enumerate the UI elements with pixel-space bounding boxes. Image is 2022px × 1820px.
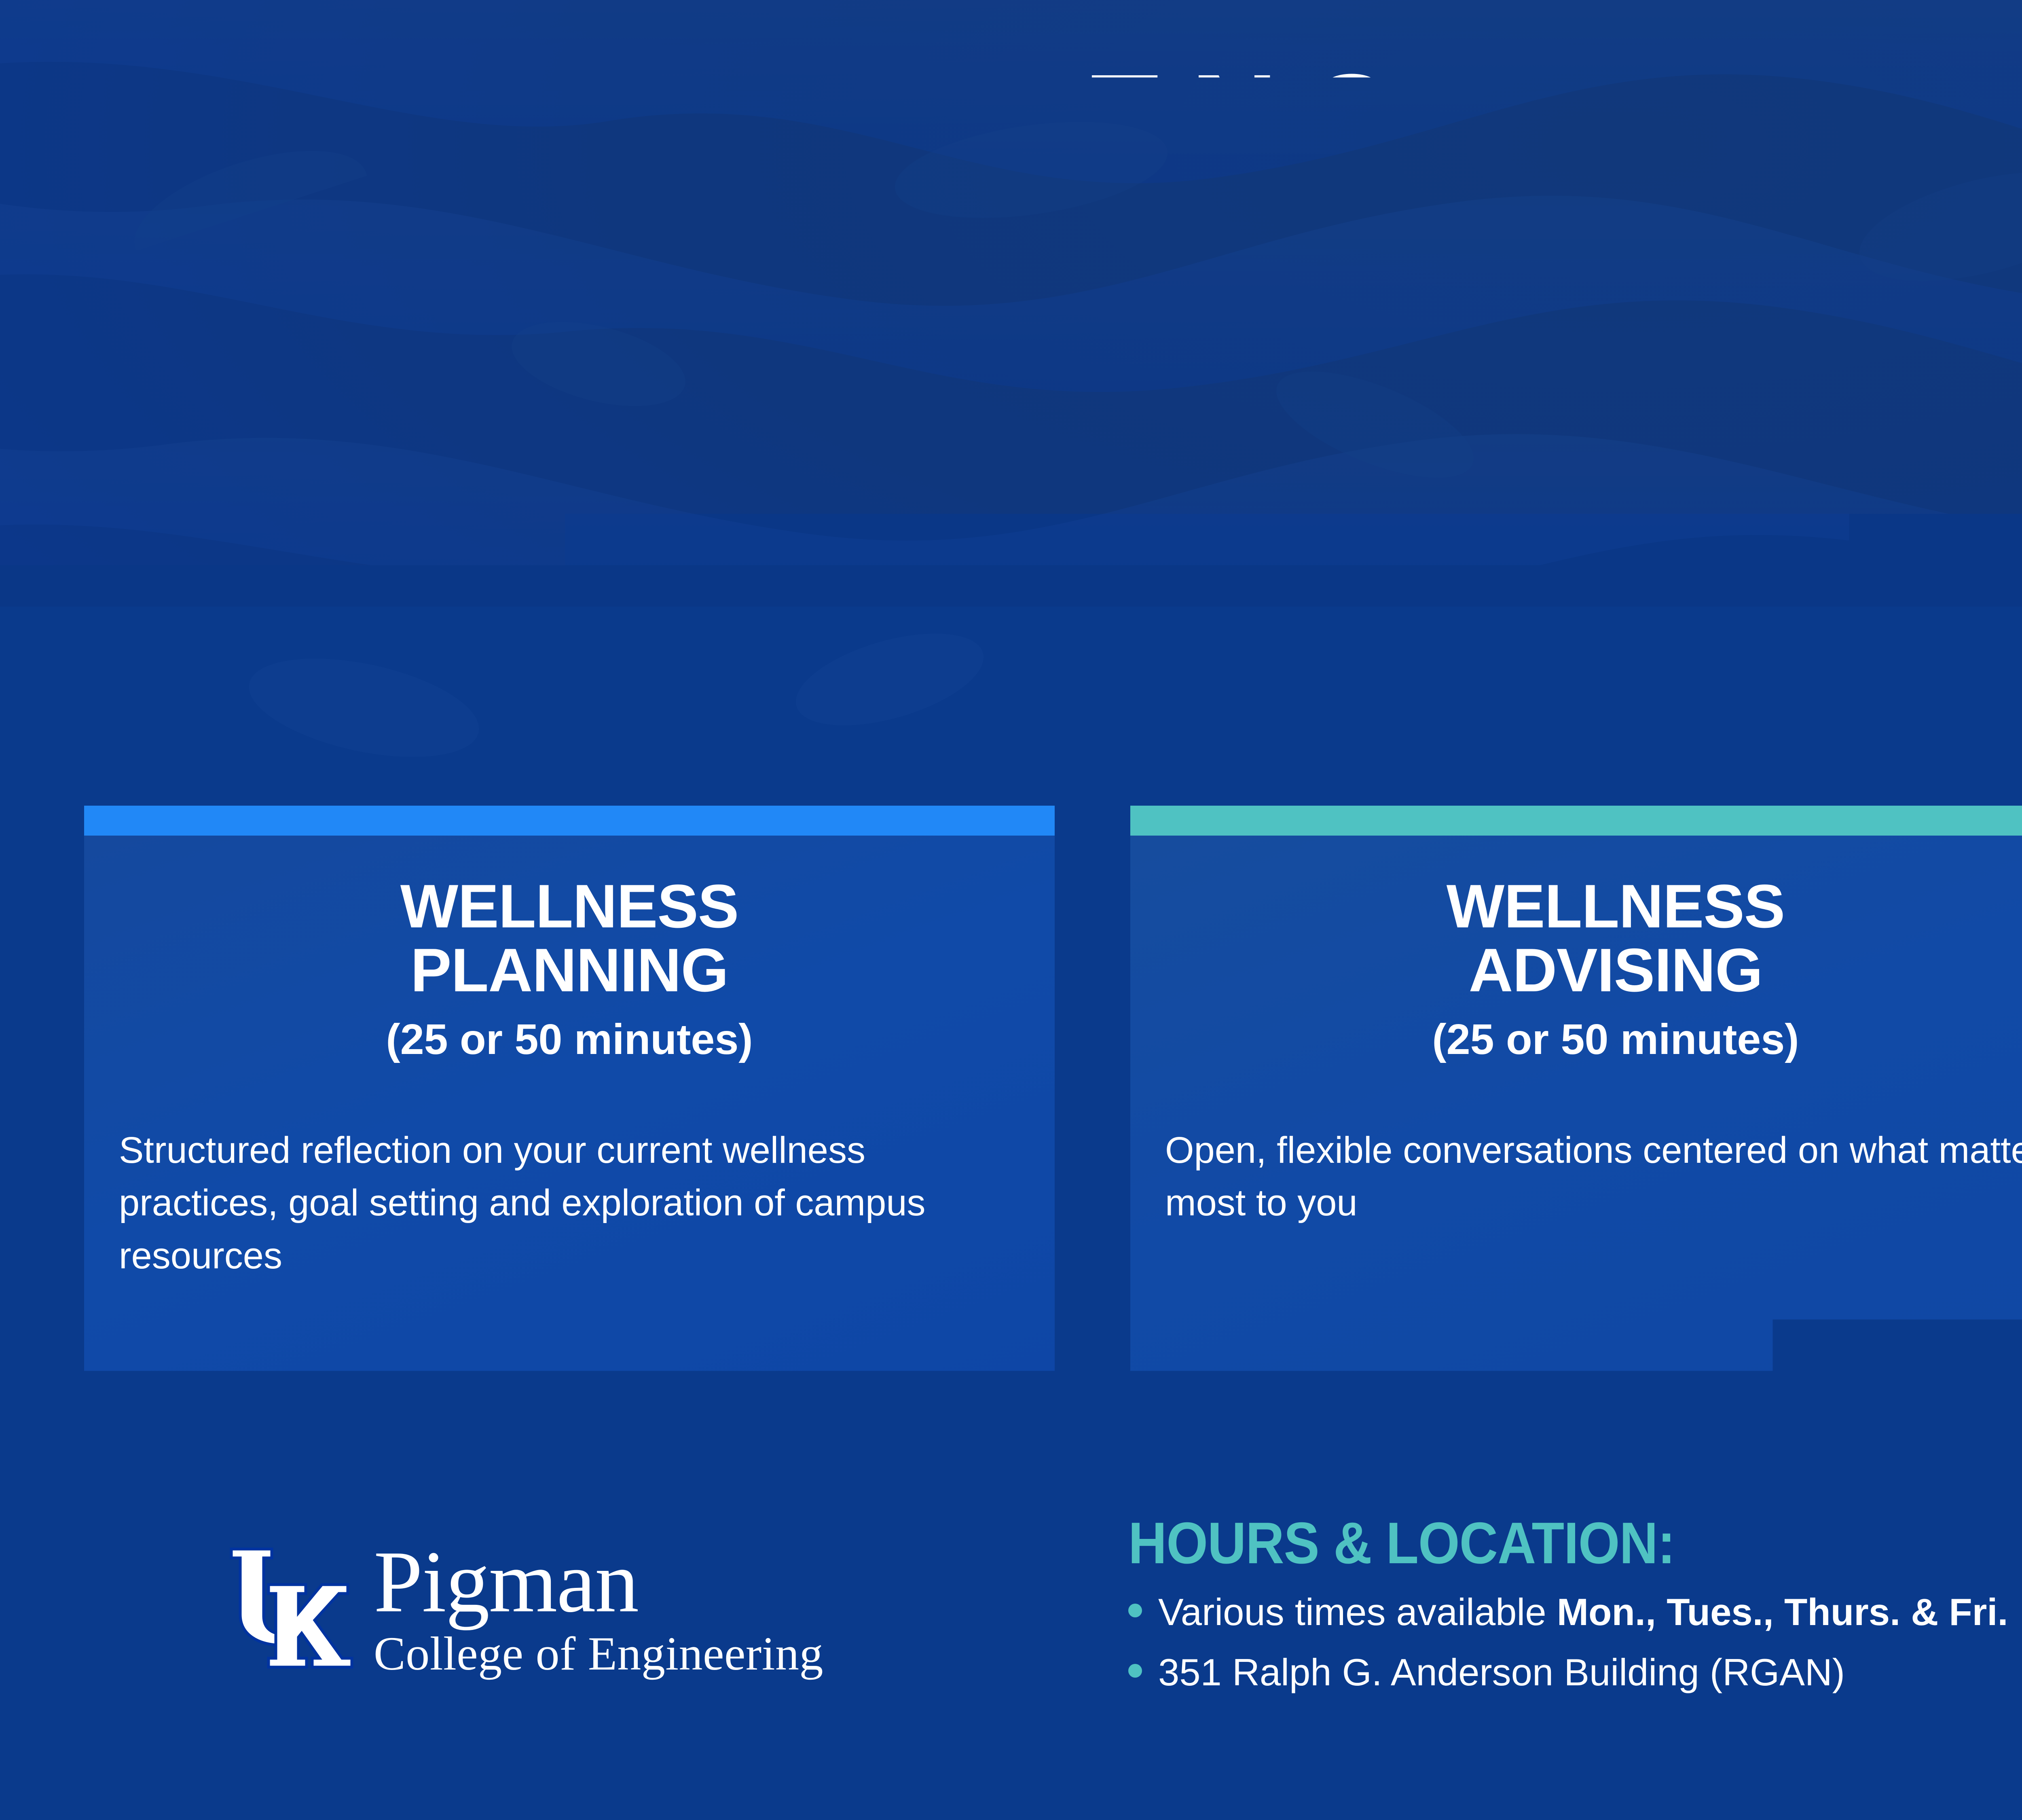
- title-line-engineering: ENGINEERING: [849, 53, 2022, 196]
- footer-row: Pigman College of Engineering HOURS & LO…: [0, 1464, 2022, 1820]
- logo-subtitle: College of Engineering: [374, 1630, 823, 1678]
- mental-strength-lettering: [121, 154, 817, 688]
- card-accent-top: [1130, 806, 2022, 836]
- card-description: Open, flexible conversations centered on…: [1165, 1124, 2022, 1230]
- page-title: ENGINEERING WELLNESS CENTER: [849, 53, 2022, 565]
- list-item: 351 Ralph G. Anderson Building (RGAN): [1128, 1650, 2022, 1694]
- uk-interlock-icon: [226, 1537, 360, 1682]
- hours-item-text: 351 Ralph G. Anderson Building (RGAN): [1158, 1651, 1845, 1693]
- card-duration: (25 or 50 minutes): [1165, 1016, 2022, 1063]
- hours-heading: HOURS & LOCATION:: [1128, 1509, 2022, 1577]
- card-title-line1: WELLNESS: [1165, 874, 2022, 938]
- bullet-dot-icon: [1128, 1664, 1142, 1678]
- card-accent-top: [84, 806, 1055, 836]
- card-title-line1: WELLNESS: [119, 874, 1020, 938]
- hours-item-bold: Mon., Tues., Thurs. & Fri.: [1557, 1591, 2008, 1633]
- list-item: Various times available Mon., Tues., Thu…: [1128, 1590, 2022, 1634]
- appointment-types-banner: Appointment Types: [1122, 603, 2022, 724]
- appointment-cards: WELLNESS PLANNING (25 or 50 minutes) Str…: [0, 806, 2022, 1449]
- card-wellness-advising[interactable]: WELLNESS ADVISING (25 or 50 minutes) Ope…: [1130, 806, 2022, 1447]
- card-body: WELLNESS ADVISING (25 or 50 minutes) Ope…: [1130, 836, 2022, 1417]
- title-line-center: CENTER: [849, 463, 2022, 585]
- title-line-wellness: WELLNESS: [802, 213, 2022, 453]
- card-body: WELLNESS PLANNING (25 or 50 minutes) Str…: [84, 836, 1055, 1417]
- card-title: WELLNESS PLANNING: [119, 874, 1020, 1002]
- appointment-types-label: Appointment Types: [1290, 621, 1941, 706]
- card-duration: (25 or 50 minutes): [119, 1016, 1020, 1063]
- poster-root: ENGINEERING WELLNESS CENTER: [0, 0, 2022, 1820]
- hours-item-text: Various times available: [1158, 1591, 1557, 1633]
- hours-list: Various times available Mon., Tues., Thu…: [1128, 1590, 2022, 1694]
- bullet-dot-icon: [1128, 1604, 1142, 1617]
- card-title-line2: ADVISING: [1165, 938, 2022, 1002]
- header-row: ENGINEERING WELLNESS CENTER: [0, 0, 2022, 590]
- card-title-line2: PLANNING: [119, 938, 1020, 1002]
- logo-wordmark: Pigman: [374, 1542, 823, 1623]
- card-accent-bottom: [1130, 1417, 2022, 1447]
- card-wellness-planning[interactable]: WELLNESS PLANNING (25 or 50 minutes) Str…: [84, 806, 1055, 1447]
- card-title: WELLNESS ADVISING: [1165, 874, 2022, 1002]
- card-description: Structured reflection on your current we…: [119, 1124, 1020, 1282]
- uk-pigman-logo: Pigman College of Engineering: [226, 1525, 890, 1695]
- card-accent-bottom: [84, 1417, 1055, 1447]
- hours-location-block: HOURS & LOCATION: Various times availabl…: [1128, 1509, 2022, 1710]
